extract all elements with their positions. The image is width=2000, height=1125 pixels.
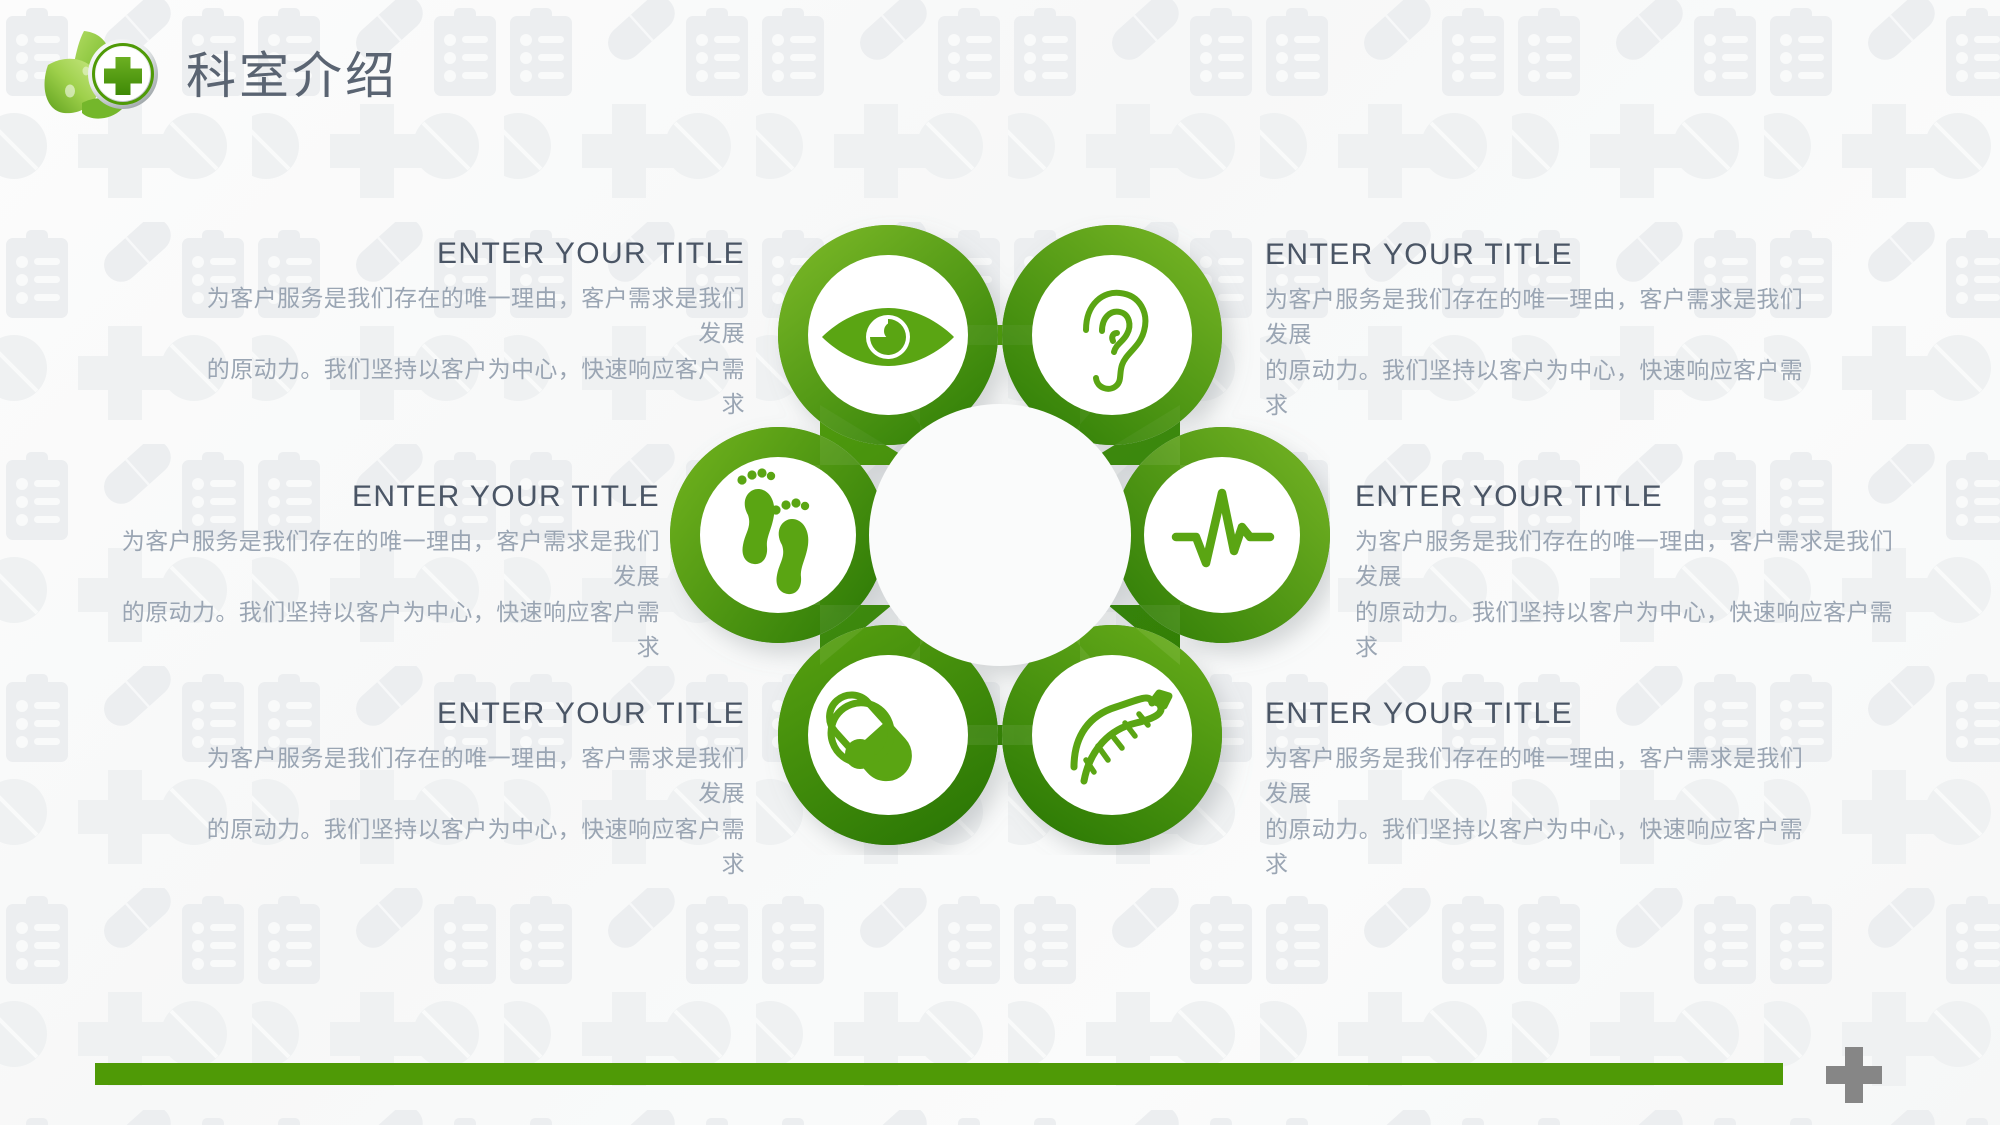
info-title: ENTER YOUR TITLE [205, 695, 745, 733]
lobe-ear[interactable] [1032, 255, 1192, 415]
info-desc-line2: 的原动力。我们坚持以客户为中心，快速响应客户需求 [205, 812, 745, 883]
info-title: ENTER YOUR TITLE [205, 235, 745, 273]
info-block-pulse: ENTER YOUR TITLE 为客户服务是我们存在的唯一理由，客户需求是我们… [1355, 478, 1895, 666]
lobe-dna[interactable] [1032, 655, 1192, 815]
slide-header: 科室介绍 [40, 18, 398, 128]
lobe-footprints[interactable] [700, 457, 856, 613]
hexagonal-flower-diagram [670, 215, 1330, 855]
medical-cross-icon [1826, 1047, 1882, 1103]
page-title: 科室介绍 [186, 51, 398, 101]
info-desc-line2: 的原动力。我们坚持以客户为中心，快速响应客户需求 [205, 352, 745, 423]
info-block-ear: ENTER YOUR TITLE 为客户服务是我们存在的唯一理由，客户需求是我们… [1265, 236, 1805, 424]
info-desc-line2: 的原动力。我们坚持以客户为中心，快速响应客户需求 [1355, 595, 1895, 666]
info-desc-line1: 为客户服务是我们存在的唯一理由，客户需求是我们发展 [205, 741, 745, 812]
info-title: ENTER YOUR TITLE [1265, 695, 1805, 733]
cross-horizontal-bar [1826, 1066, 1882, 1084]
info-block-foot: ENTER YOUR TITLE 为客户服务是我们存在的唯一理由，客户需求是我们… [120, 478, 660, 666]
info-block-dna: ENTER YOUR TITLE 为客户服务是我们存在的唯一理由，客户需求是我们… [1265, 695, 1805, 883]
info-block-pill: ENTER YOUR TITLE 为客户服务是我们存在的唯一理由，客户需求是我们… [205, 695, 745, 883]
lobe-pulse[interactable] [1144, 457, 1300, 613]
slide-canvas: 科室介绍 ENTER YOUR TITLE 为客户服务是我们存在的唯一理由，客户… [0, 0, 2000, 1125]
info-desc-line1: 为客户服务是我们存在的唯一理由，客户需求是我们发展 [1355, 524, 1895, 595]
info-desc-line2: 的原动力。我们坚持以客户为中心，快速响应客户需求 [1265, 353, 1805, 424]
info-desc-line2: 的原动力。我们坚持以客户为中心，快速响应客户需求 [120, 595, 660, 666]
footer-accent-bar [95, 1063, 1783, 1085]
info-desc-line1: 为客户服务是我们存在的唯一理由，客户需求是我们发展 [120, 524, 660, 595]
lobe-pill[interactable] [808, 655, 968, 815]
green-leaf-medical-cross-logo [40, 19, 170, 127]
info-desc-line1: 为客户服务是我们存在的唯一理由，客户需求是我们发展 [1265, 741, 1805, 812]
info-desc-line1: 为客户服务是我们存在的唯一理由，客户需求是我们发展 [205, 281, 745, 352]
lobe-eye[interactable] [808, 255, 968, 415]
info-title: ENTER YOUR TITLE [1355, 478, 1895, 516]
info-block-eye: ENTER YOUR TITLE 为客户服务是我们存在的唯一理由，客户需求是我们… [205, 235, 745, 423]
info-title: ENTER YOUR TITLE [1265, 236, 1805, 274]
info-desc-line2: 的原动力。我们坚持以客户为中心，快速响应客户需求 [1265, 812, 1805, 883]
info-desc-line1: 为客户服务是我们存在的唯一理由，客户需求是我们发展 [1265, 282, 1805, 353]
info-title: ENTER YOUR TITLE [120, 478, 660, 516]
